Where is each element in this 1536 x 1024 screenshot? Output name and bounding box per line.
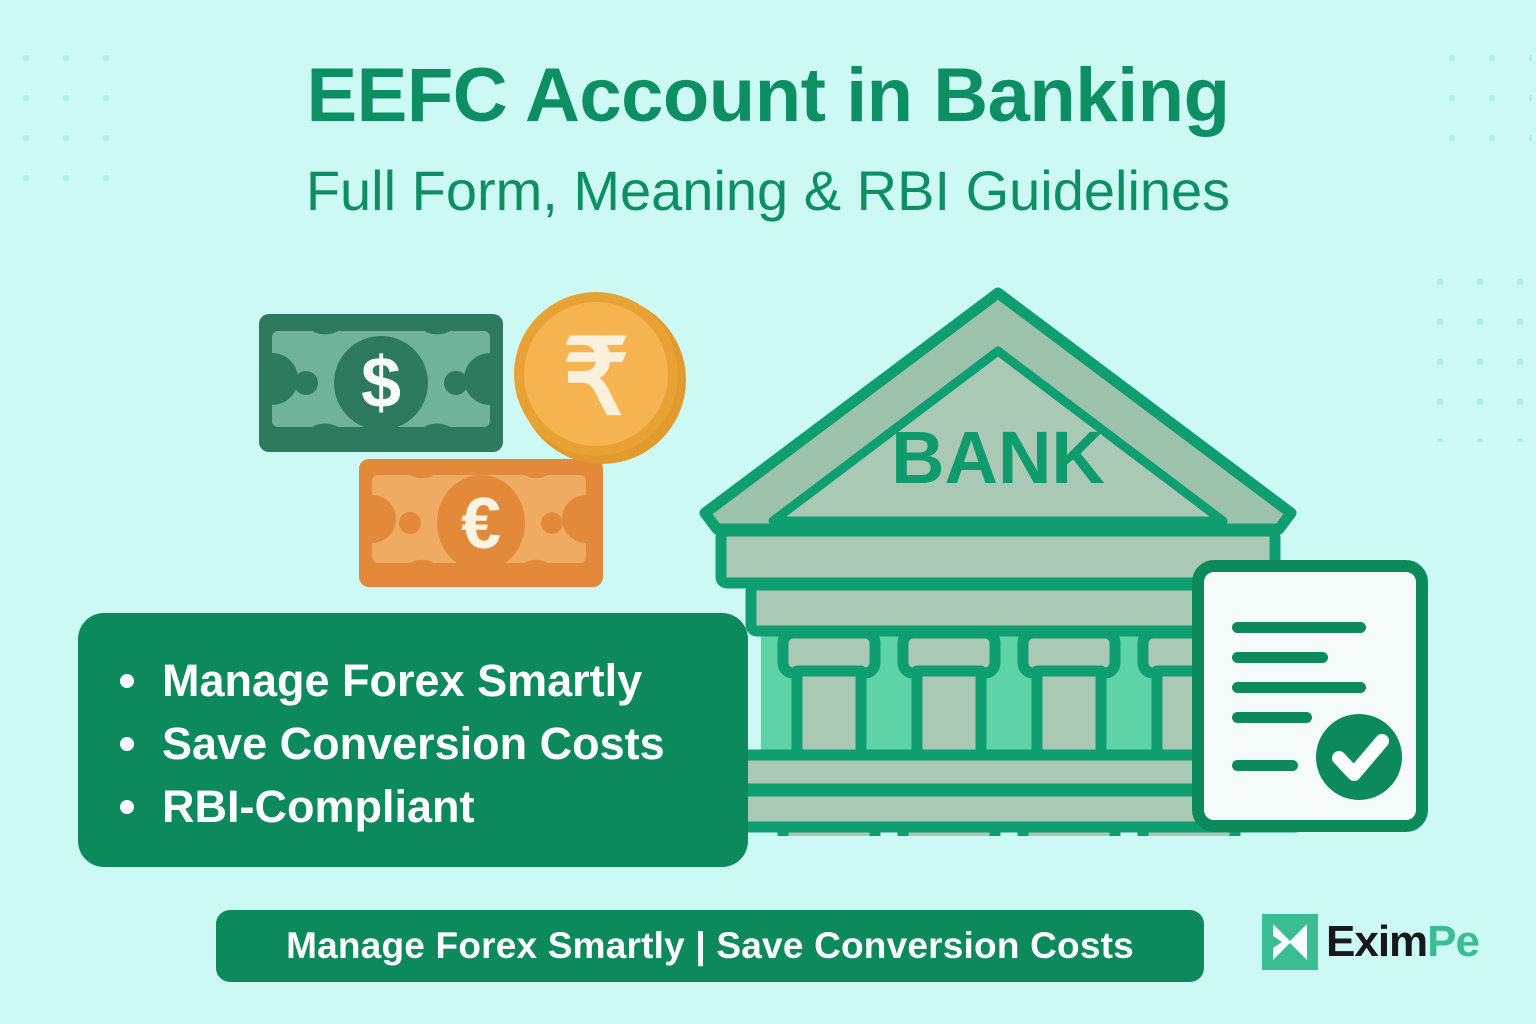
wordmark-primary: Exim [1326,917,1427,966]
bullet-dot-icon [120,674,134,688]
list-item: Save Conversion Costs [120,712,748,775]
list-item: Manage Forex Smartly [120,649,748,712]
svg-text:$: $ [361,343,401,423]
euro-bill-icon: € [358,458,604,588]
bullet-label: RBI-Compliant [162,784,474,829]
wordmark-accent: Pe [1427,917,1479,966]
compliance-document-icon [1192,560,1428,832]
page-title: EEFC Account in Banking [0,58,1536,134]
bullet-dot-icon [120,800,134,814]
tagline-ribbon: Manage Forex Smartly | Save Conversion C… [216,910,1204,982]
eximpe-x-mark-icon [1262,914,1318,970]
tagline-text: Manage Forex Smartly | Save Conversion C… [286,925,1134,967]
bullet-label: Save Conversion Costs [162,721,665,766]
bullet-label: Manage Forex Smartly [162,658,642,703]
indian-rupee-coin-icon: ₹ [510,288,688,466]
check-badge [1316,714,1402,800]
svg-text:₹: ₹ [563,320,630,437]
eximpe-wordmark: EximPe [1326,920,1479,964]
list-item: RBI-Compliant [120,775,748,838]
infographic-canvas: EEFC Account in Banking Full Form, Meani… [0,0,1536,1024]
benefits-panel: Manage Forex Smartly Save Conversion Cos… [78,613,748,867]
bank-sign-text: BANK [891,416,1105,499]
bullet-dot-icon [120,737,134,751]
bank-frieze [751,585,1245,631]
eximpe-logo: EximPe [1262,908,1506,976]
dot-pattern-right [1420,262,1536,442]
us-dollar-bill-icon: $ [258,313,504,453]
currency-illustration-group: $ € ₹ [250,288,710,593]
page-subtitle: Full Form, Meaning & RBI Guidelines [0,163,1536,219]
svg-text:€: € [461,484,501,564]
